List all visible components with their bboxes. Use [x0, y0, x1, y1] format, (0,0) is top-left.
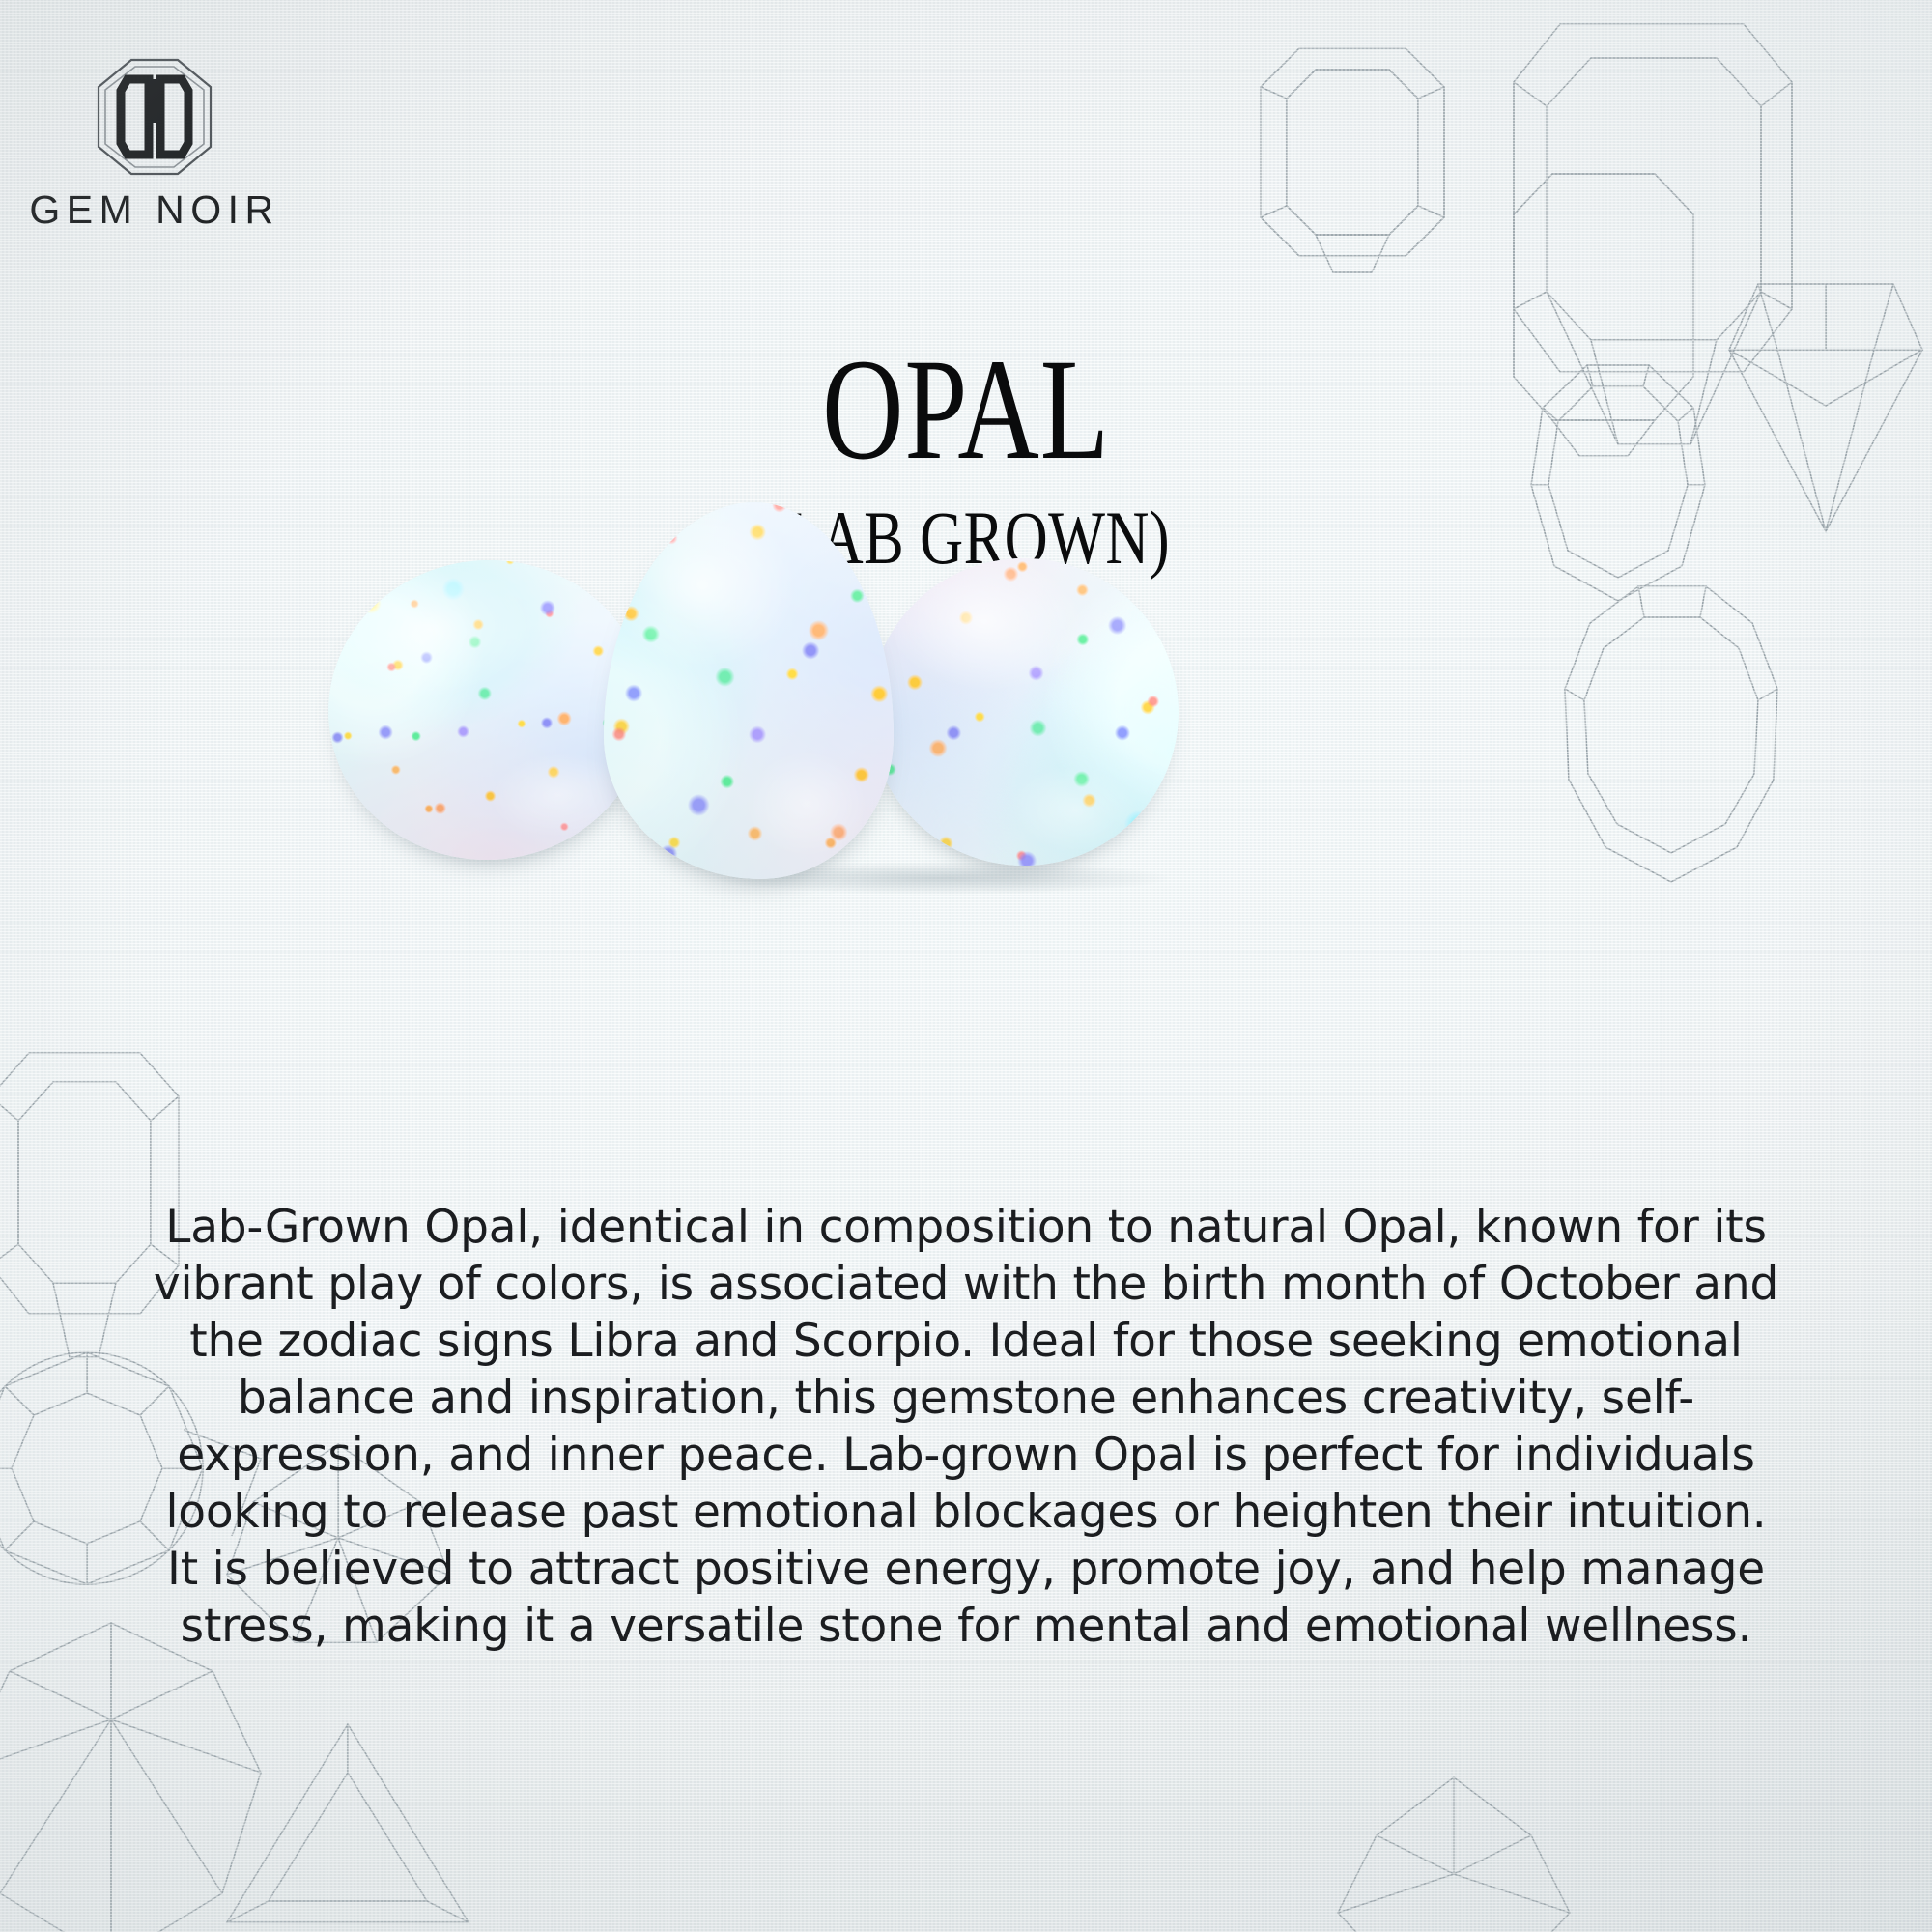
gemstone-cluster: [319, 502, 1217, 908]
watermark-dodecagon-gem-icon: [1546, 575, 1797, 903]
brand-logo[interactable]: GEM NOIR: [29, 56, 280, 233]
pear-opal-center: [604, 502, 894, 879]
gem-octagon-monogram-icon: [95, 56, 214, 178]
watermark-marquise-gem-icon: [1309, 1768, 1599, 1932]
page-title: OPAL: [213, 340, 1719, 479]
poster-canvas: GEM NOIR OPAL (LAB GROWN) Lab-Grown Opal…: [0, 0, 1932, 1932]
opal-highlight-sheen: [604, 502, 894, 879]
opal-highlight-sheen: [854, 543, 1193, 881]
gemstone-description: Lab-Grown Opal, identical in composition…: [145, 1200, 1787, 1656]
round-opal-right: [854, 543, 1193, 881]
brand-wordmark: GEM NOIR: [29, 187, 280, 233]
watermark-trillion-gem-icon: [203, 1700, 493, 1932]
watermark-emerald-cut-gem-icon: [1246, 10, 1459, 299]
